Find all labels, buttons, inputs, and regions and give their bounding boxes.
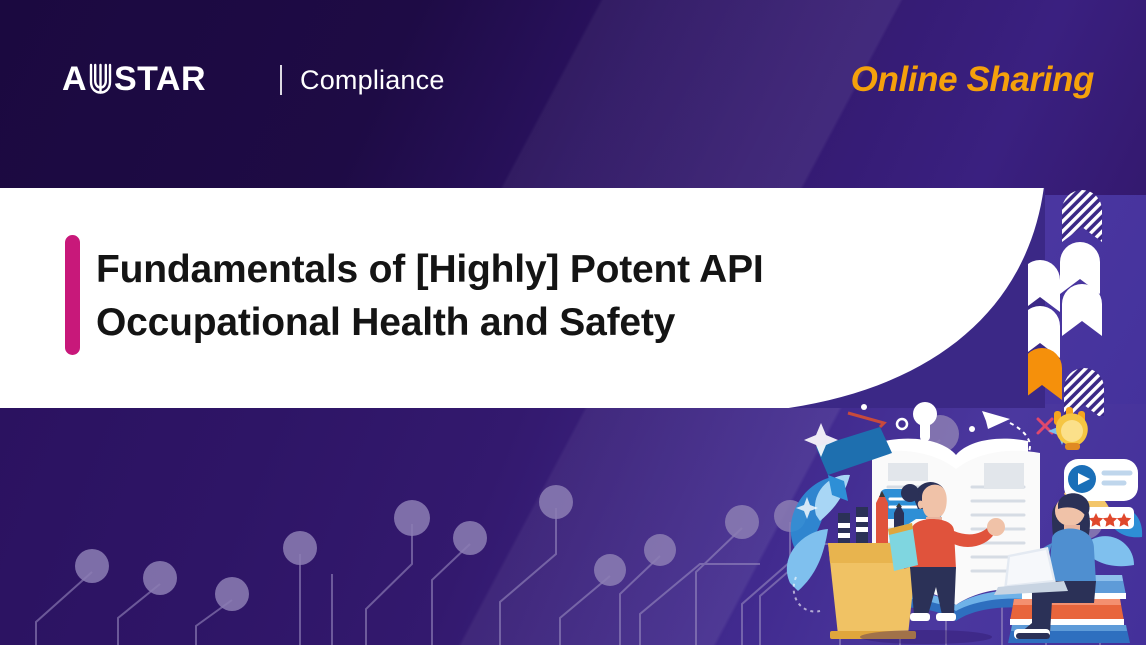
- austar-logotype-icon: A STAR: [62, 60, 260, 100]
- austar-u-tulip-icon: [91, 65, 110, 93]
- svg-text:STAR: STAR: [114, 60, 206, 98]
- chevron-ribbon-decoration: [1028, 186, 1146, 416]
- dot-icon: [861, 404, 867, 410]
- online-sharing-badge: Online Sharing: [851, 58, 1094, 102]
- light-bulb-icon: [1054, 407, 1088, 450]
- e-learning-illustration: [776, 397, 1146, 645]
- ground-shadow: [860, 630, 992, 644]
- magenta-accent-bar: [65, 235, 80, 355]
- chevron-ribbon-icon: [1028, 190, 1104, 416]
- header: A STAR Compliance Online Sharing: [0, 0, 1146, 188]
- page-title-line-2: Occupational Health and Safety: [96, 296, 856, 349]
- dot-icon: [969, 426, 975, 432]
- austar-wordmark: A STAR: [62, 60, 260, 100]
- sub-brand-label: Compliance: [300, 67, 445, 94]
- key-icon: [913, 402, 937, 441]
- svg-text:A: A: [62, 60, 87, 98]
- page-title: Fundamentals of [Highly] Potent API Occu…: [96, 243, 856, 349]
- vertical-divider-icon: [280, 65, 282, 95]
- slide-canvas: A STAR Compliance Online Sharing: [0, 0, 1146, 645]
- brand-logo[interactable]: A STAR Compliance: [62, 58, 445, 102]
- small-circle-icon: [897, 419, 907, 429]
- page-title-line-1: Fundamentals of [Highly] Potent API: [96, 243, 856, 296]
